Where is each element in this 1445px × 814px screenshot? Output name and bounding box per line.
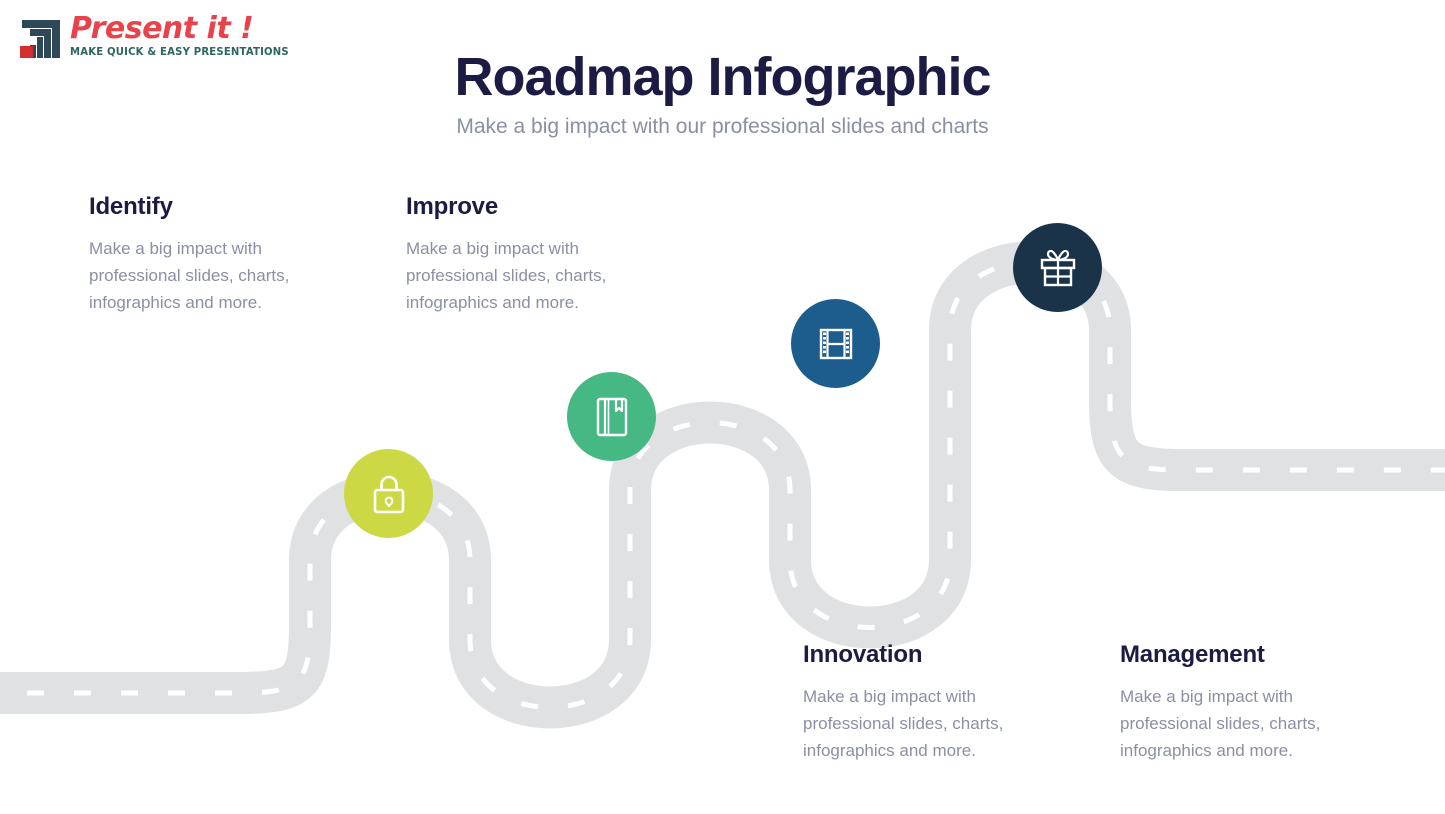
page-title: Roadmap Infographic: [0, 46, 1445, 108]
step-node-management[interactable]: [1013, 223, 1102, 312]
step-description-management: Make a big impact with professional slid…: [1120, 683, 1370, 764]
step-description-improve: Make a big impact with professional slid…: [406, 235, 656, 316]
step-description-innovation: Make a big impact with professional slid…: [803, 683, 1053, 764]
step-node-identify[interactable]: [344, 449, 433, 538]
step-title-improve: Improve: [406, 193, 656, 221]
roadmap-infographic-slide: Present it ! MAKE QUICK & EASY PRESENTAT…: [0, 0, 1445, 814]
gift-icon: [1034, 245, 1082, 291]
step-block-identify: Identify Make a big impact with professi…: [89, 193, 339, 316]
step-title-identify: Identify: [89, 193, 339, 221]
book-icon: [590, 393, 634, 441]
step-title-innovation: Innovation: [803, 641, 1053, 669]
film-icon: [813, 321, 859, 367]
step-title-management: Management: [1120, 641, 1370, 669]
lock-icon: [368, 471, 410, 517]
step-block-improve: Improve Make a big impact with professio…: [406, 193, 656, 316]
page-subtitle: Make a big impact with our professional …: [0, 112, 1445, 142]
step-node-improve[interactable]: [567, 372, 656, 461]
step-block-innovation: Innovation Make a big impact with profes…: [803, 641, 1053, 764]
step-description-identify: Make a big impact with professional slid…: [89, 235, 339, 316]
step-node-innovation[interactable]: [791, 299, 880, 388]
logo-wordmark: Present it !: [70, 14, 320, 44]
step-block-management: Management Make a big impact with profes…: [1120, 641, 1370, 764]
